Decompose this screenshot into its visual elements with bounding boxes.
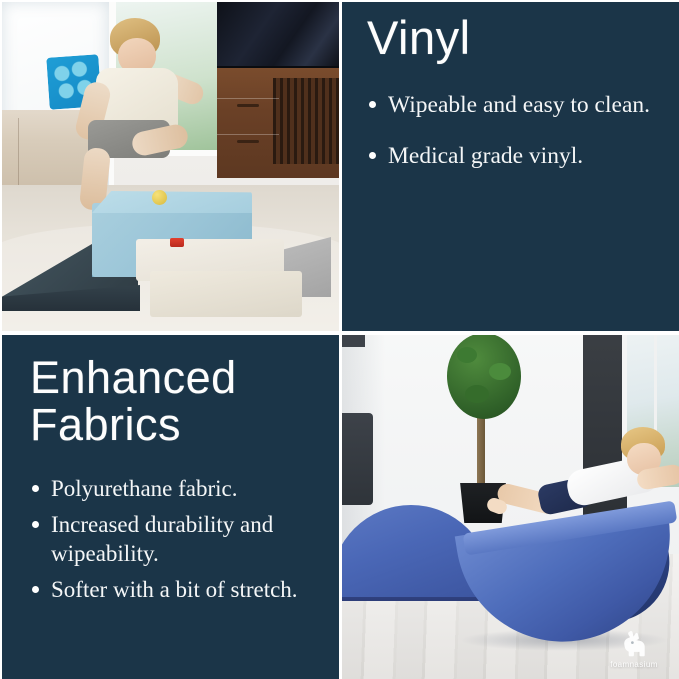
foam-cube-top-face: [92, 191, 252, 213]
panel-fabrics-heading-line-1: Enhanced: [30, 352, 237, 403]
horizontal-divider: [0, 331, 679, 335]
dark-fireplace-surround: [339, 413, 373, 505]
list-item: Softer with a bit of stretch.: [30, 576, 321, 605]
bullet-dot-icon: [32, 586, 39, 593]
left-edge-border: [0, 0, 2, 679]
television-screen: [217, 0, 339, 69]
ceiling-beam: [339, 333, 365, 347]
drawer-handle-bottom: [237, 140, 259, 143]
photo-living-room-foam-play-set: [0, 0, 339, 333]
foam-step-lower-cream: [150, 271, 302, 317]
child-on-foam-block: [82, 16, 200, 216]
panel-fabrics-heading-line-2: Fabrics: [30, 399, 181, 450]
list-item: Polyurethane fabric.: [30, 475, 321, 504]
panel-vinyl-heading: Vinyl: [367, 14, 655, 63]
bullet-text: Increased durability and wipeability.: [51, 512, 273, 566]
panel-vinyl: Vinyl Wipeable and easy to clean. Medica…: [339, 0, 679, 333]
bullet-dot-icon: [32, 521, 39, 528]
tree-leaf-cluster: [457, 347, 477, 363]
product-feature-infographic: Vinyl Wipeable and easy to clean. Medica…: [0, 0, 679, 679]
wood-credenza: [217, 68, 339, 178]
bullet-dot-icon: [32, 485, 39, 492]
bench-seam: [18, 118, 19, 188]
vertical-divider: [339, 0, 342, 679]
bullet-dot-icon: [369, 152, 376, 159]
drawer-seam-top: [217, 98, 279, 99]
top-edge-border: [0, 0, 679, 2]
list-item: Wipeable and easy to clean.: [367, 91, 655, 120]
panel-vinyl-bullet-list: Wipeable and easy to clean. Medical grad…: [367, 91, 655, 170]
photo-blue-foam-rocker: foamnasium: [339, 333, 679, 679]
credenza-slat-panel: [273, 78, 339, 164]
panel-enhanced-fabrics: Enhanced Fabrics Polyurethane fabric. In…: [0, 333, 339, 679]
photo-2-scene: foamnasium: [339, 333, 679, 679]
panel-fabrics-bullet-list: Polyurethane fabric. Increased durabilit…: [30, 475, 321, 605]
list-item: Increased durability and wipeability.: [30, 511, 321, 569]
bullet-dot-icon: [369, 101, 376, 108]
tree-foliage: [447, 333, 521, 419]
bullet-text: Softer with a bit of stretch.: [51, 577, 298, 602]
bullet-text: Wipeable and easy to clean.: [388, 92, 650, 118]
photo-1-scene: [0, 0, 339, 333]
yellow-ball-toy: [152, 190, 167, 205]
tree-leaf-cluster: [465, 385, 489, 403]
tree-leaf-cluster: [489, 363, 511, 380]
bullet-text: Polyurethane fabric.: [51, 476, 237, 501]
drawer-seam-bottom: [217, 134, 279, 135]
red-toy-car: [170, 238, 184, 247]
bullet-text: Medical grade vinyl.: [388, 143, 583, 169]
drawer-handle-top: [237, 104, 259, 107]
panel-fabrics-heading: Enhanced Fabrics: [30, 355, 321, 449]
list-item: Medical grade vinyl.: [367, 142, 655, 171]
